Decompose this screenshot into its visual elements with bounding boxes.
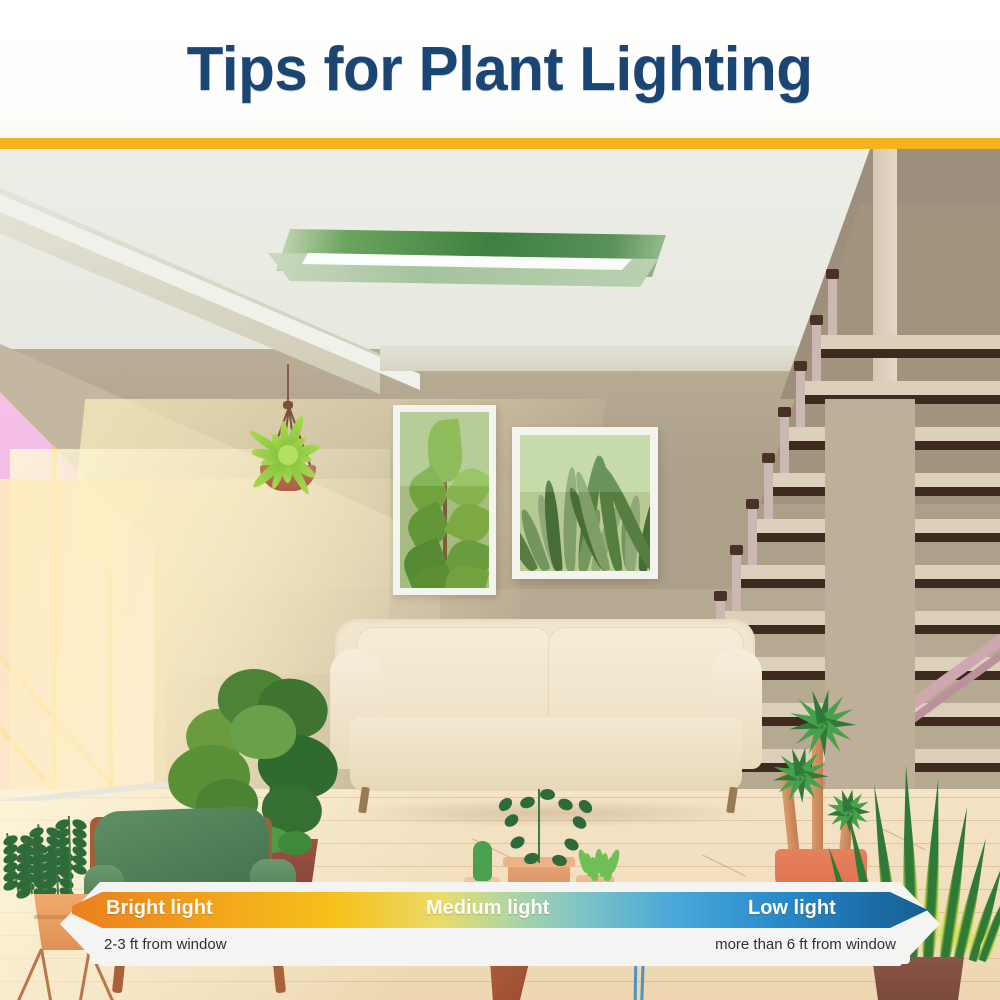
living-room-scene [0, 149, 1000, 1000]
stair-baluster-3 [780, 411, 789, 473]
stair-baluster-cap-6 [730, 545, 743, 555]
stair-baluster-cap-2 [794, 361, 807, 371]
table-zz-main-stem [538, 789, 540, 863]
hanging-plant-crown [278, 445, 298, 465]
stair-baluster-1 [812, 319, 821, 381]
stair-baluster-cap-4 [762, 453, 775, 463]
monstera-pot-shrub-b [278, 831, 312, 855]
stair-step-0 [816, 335, 1000, 349]
monstera-leaf-5 [230, 705, 296, 759]
legend-label-low: Low light [748, 897, 836, 920]
header: Tips for Plant Lighting [0, 0, 1000, 138]
stair-step-1 [800, 381, 1000, 395]
stair-baluster-cap-3 [778, 407, 791, 417]
hanging-plant-rope [287, 364, 289, 404]
sofa-cushion-left [356, 627, 552, 723]
legend-label-medium: Medium light [426, 897, 549, 920]
header-divider [0, 138, 1000, 149]
sofa-shadow [340, 799, 760, 827]
wall-art-left-canvas [400, 412, 489, 588]
sofa-seat [350, 717, 742, 791]
wall-art-right-canvas [520, 435, 650, 571]
table-cactus-body [473, 841, 492, 881]
stair-baluster-cap-5 [746, 499, 759, 509]
legend-caption-left: 2-3 ft from window [104, 936, 227, 953]
stair-baluster-2 [796, 365, 805, 427]
stair-baluster-cap-1 [810, 315, 823, 325]
page-title: Tips for Plant Lighting [187, 34, 813, 105]
legend-label-bright: Bright light [106, 897, 213, 920]
stair-baluster-6 [732, 549, 741, 611]
stair-baluster-cap-0 [826, 269, 839, 279]
stair-baluster-0 [828, 273, 837, 335]
stair-baluster-4 [764, 457, 773, 519]
stair-riser-0 [816, 349, 1000, 358]
light-distance-legend: Bright light Medium light Low light 2-3 … [60, 882, 940, 966]
stair-baluster-5 [748, 503, 757, 565]
legend-caption-right: more than 6 ft from window [715, 936, 896, 953]
stair-baluster-cap-7 [714, 591, 727, 601]
wall-art-right-frame [512, 427, 658, 579]
wall-art-left-frame [393, 405, 496, 595]
infographic-page: Tips for Plant Lighting [0, 0, 1000, 1000]
